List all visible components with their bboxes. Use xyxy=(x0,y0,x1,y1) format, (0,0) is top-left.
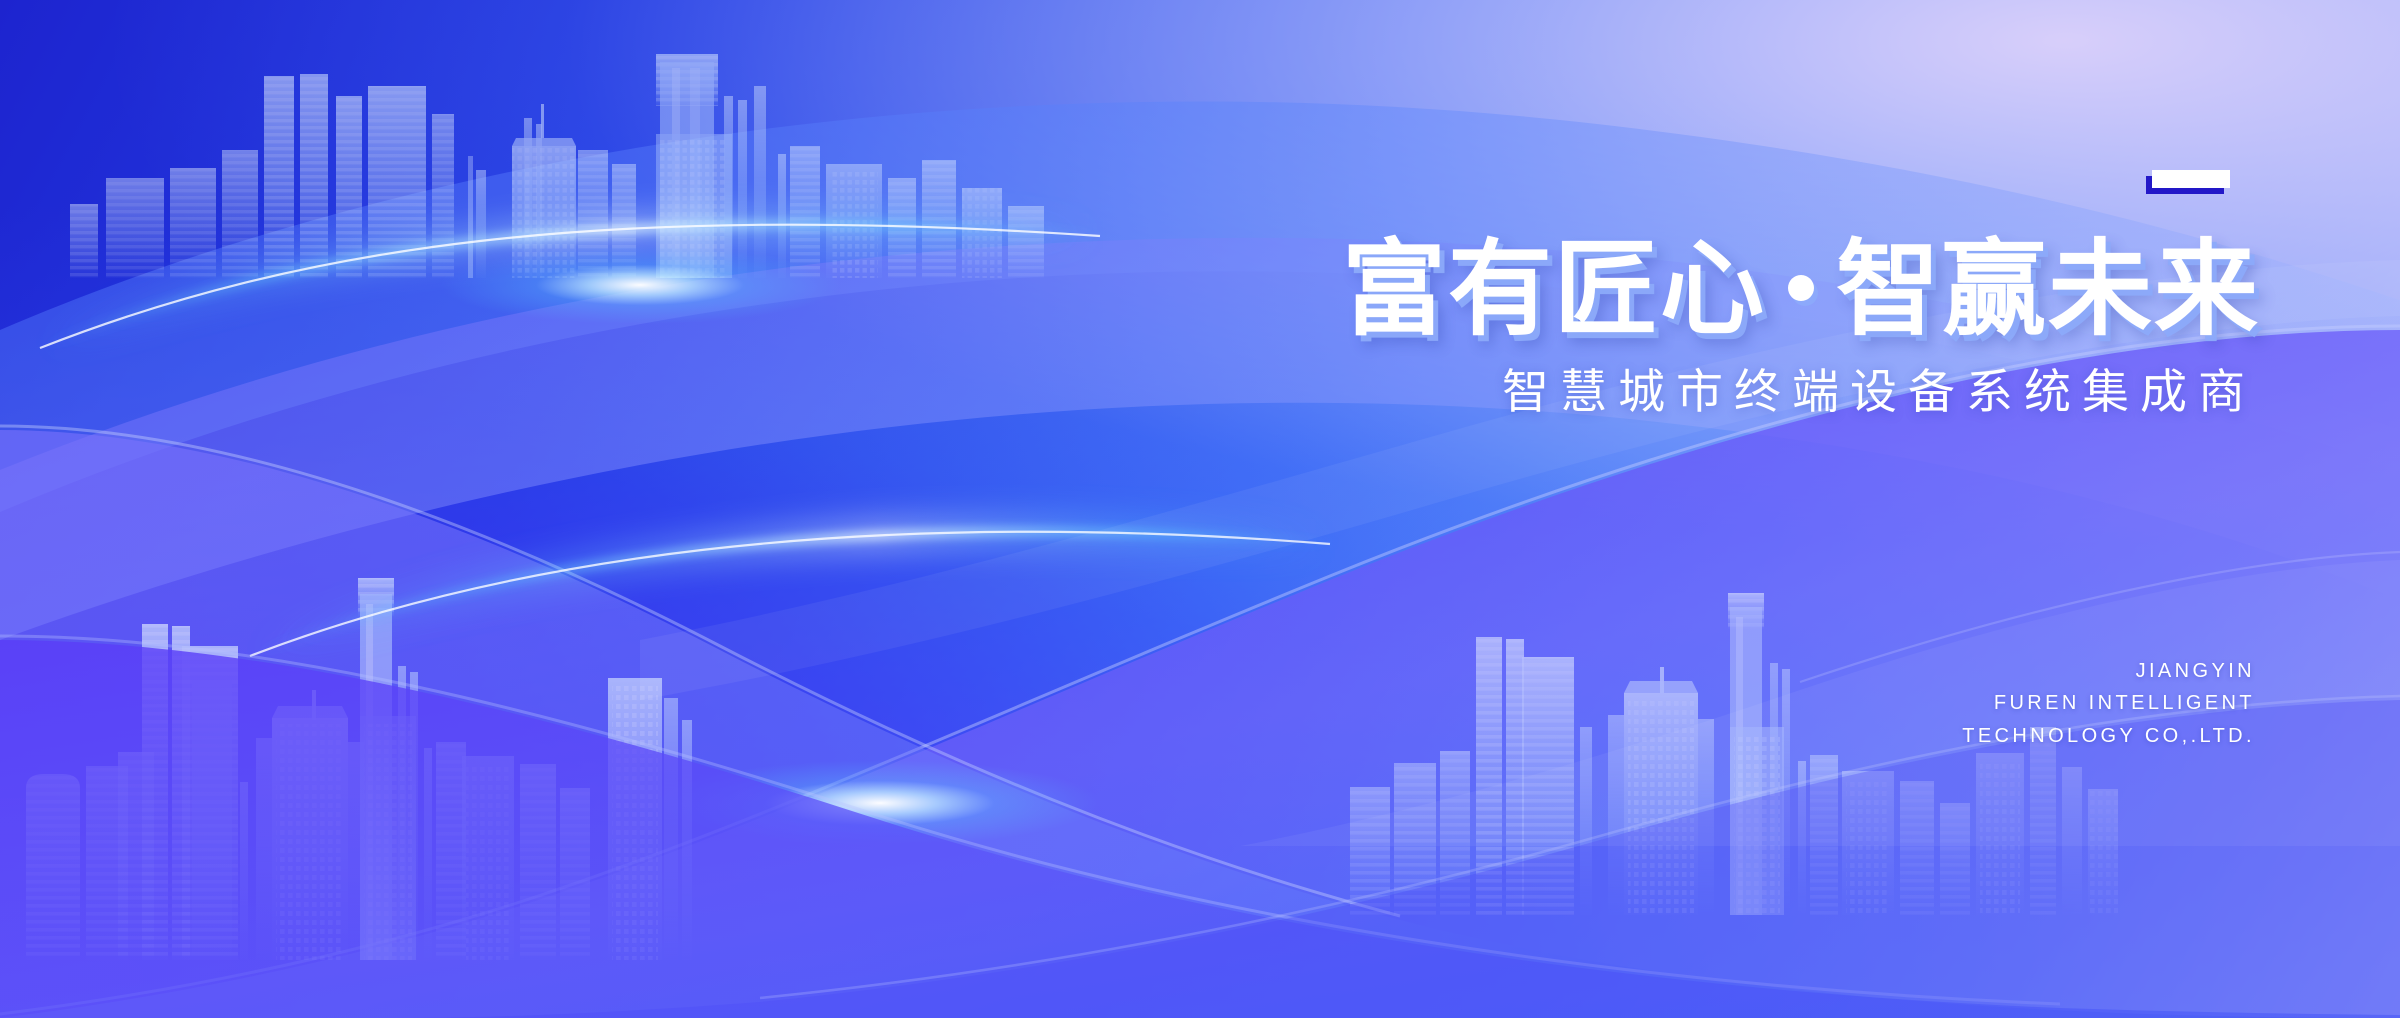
wave-layer-front xyxy=(0,0,2400,1018)
company-name-block: JIANGYIN FUREN INTELLIGENT TECHNOLOGY CO… xyxy=(1962,655,2255,752)
headline-block: 富有匠心智赢未来 智慧城市终端设备系统集成商 xyxy=(1140,170,2260,419)
accent-dash-icon xyxy=(2152,170,2230,188)
page-subtitle: 智慧城市终端设备系统集成商 xyxy=(1140,367,2260,419)
dot-separator-icon xyxy=(1788,275,1814,301)
company-line-2: FUREN INTELLIGENT xyxy=(1962,687,2255,719)
company-line-3: TECHNOLOGY CO,.LTD. xyxy=(1962,720,2255,752)
headline-part-2: 智赢未来 xyxy=(1836,228,2260,350)
banner-canvas: 富有匠心智赢未来 智慧城市终端设备系统集成商 JIANGYIN FUREN IN… xyxy=(0,0,2400,1018)
page-title: 富有匠心智赢未来 xyxy=(1140,237,2260,341)
headline-part-1: 富有匠心 xyxy=(1342,228,1766,350)
company-line-1: JIANGYIN xyxy=(1962,655,2255,687)
